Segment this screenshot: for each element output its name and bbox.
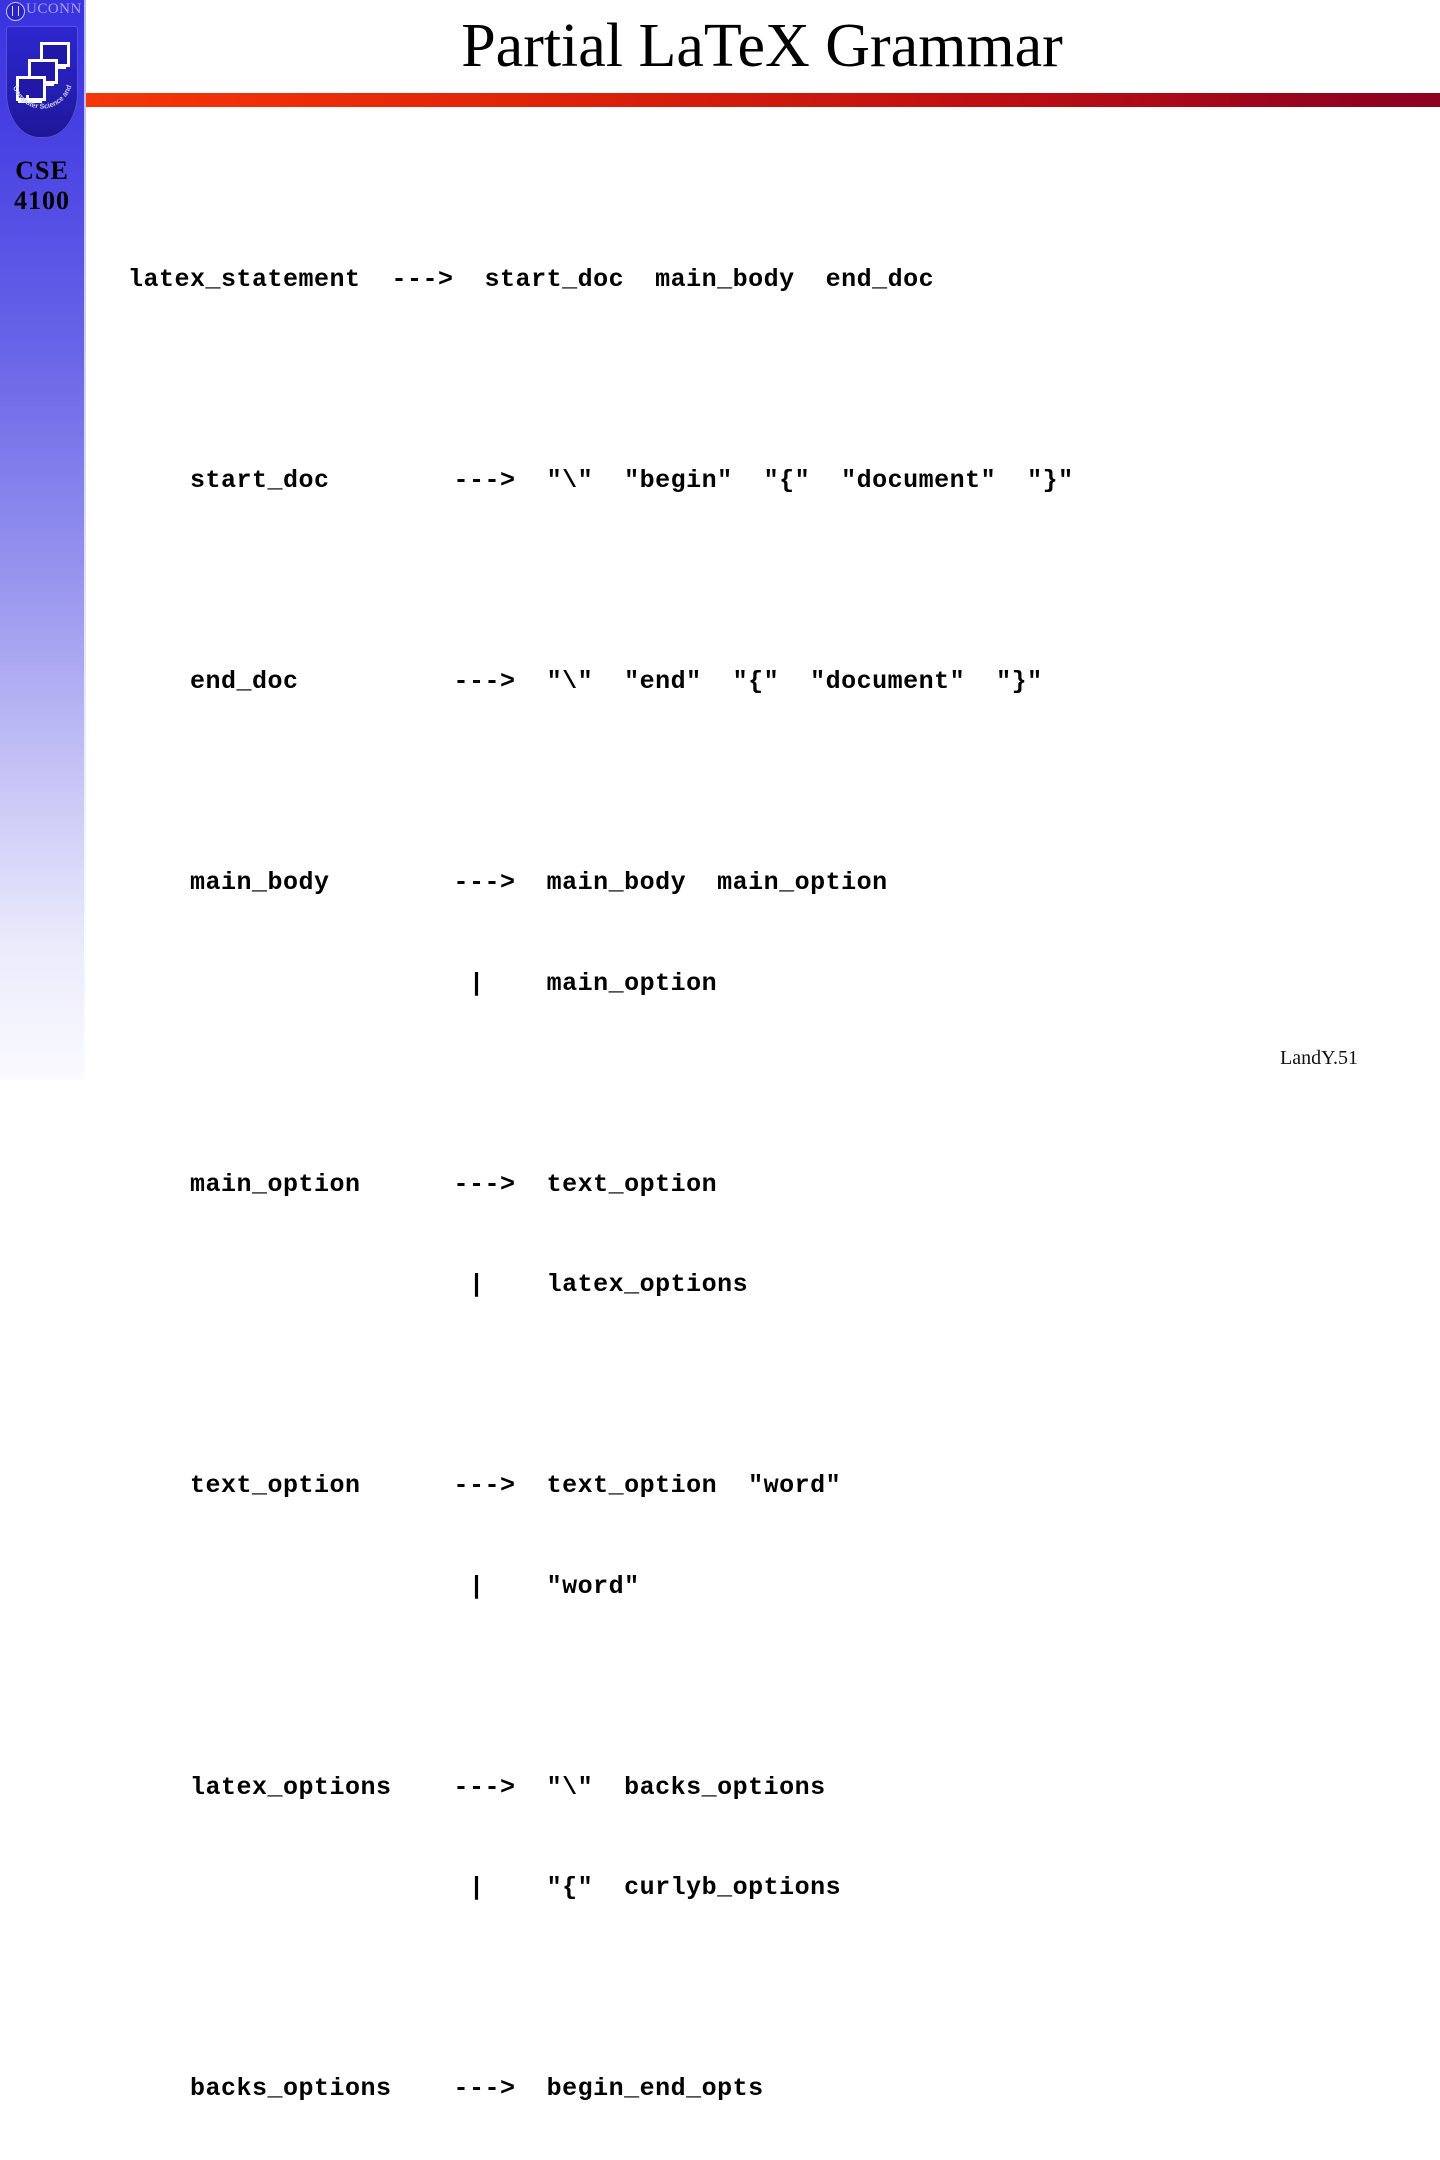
shield-curved-text-path: Computer Science and Engineering	[6, 26, 74, 111]
sidebar: UCONN Computer Science and Engineering	[0, 0, 84, 1080]
shield-curved-text: Computer Science and Engineering	[6, 26, 78, 138]
grammar-line: | "word"	[128, 1570, 1244, 1604]
grammar-line: | latex_options	[128, 1268, 1244, 1302]
grammar-line: text_option ---> text_option "word"	[128, 1469, 1244, 1503]
grammar-line: | main_option	[128, 967, 1244, 1001]
slide-footer: LandY.51	[1280, 1047, 1358, 1070]
grammar-line-blank	[128, 1670, 1244, 1704]
grammar-line: | "{" curlyb_options	[128, 1871, 1244, 1905]
grammar-line: end_doc ---> "\" "end" "{" "document" "}…	[128, 665, 1244, 699]
slide: UCONN Computer Science and Engineering	[0, 0, 1440, 1080]
grammar-line: main_option ---> text_option	[128, 1168, 1244, 1202]
grammar-line: main_body ---> main_body main_option	[128, 866, 1244, 900]
title-accent-rule	[86, 93, 1440, 107]
grammar-block: latex_statement ---> start_doc main_body…	[128, 196, 1244, 2160]
grammar-line-blank	[128, 1067, 1244, 1101]
grammar-line-blank	[128, 766, 1244, 800]
grammar-line-blank	[128, 565, 1244, 599]
grammar-line-blank	[128, 1369, 1244, 1403]
svg-text:Computer Science and Engineeri: Computer Science and Engineering	[6, 26, 74, 111]
grammar-line-blank	[128, 1972, 1244, 2006]
course-number: 4100	[0, 186, 84, 216]
grammar-line: latex_options ---> "\" backs_options	[128, 1771, 1244, 1805]
university-name: UCONN	[26, 1, 82, 18]
grammar-line: start_doc ---> "\" "begin" "{" "document…	[128, 464, 1244, 498]
grammar-line-blank	[128, 364, 1244, 398]
sidebar-edge-divider	[84, 0, 86, 1080]
uconn-banner: UCONN	[0, 0, 84, 22]
grammar-line: latex_statement ---> start_doc main_body…	[128, 263, 1244, 297]
uconn-seal-icon	[6, 2, 25, 21]
cse-shield-logo: Computer Science and Engineering	[6, 26, 78, 138]
course-code: CSE	[0, 156, 84, 186]
page-title: Partial LaTeX Grammar	[84, 4, 1440, 88]
grammar-line: backs_options ---> begin_end_opts	[128, 2072, 1244, 2106]
